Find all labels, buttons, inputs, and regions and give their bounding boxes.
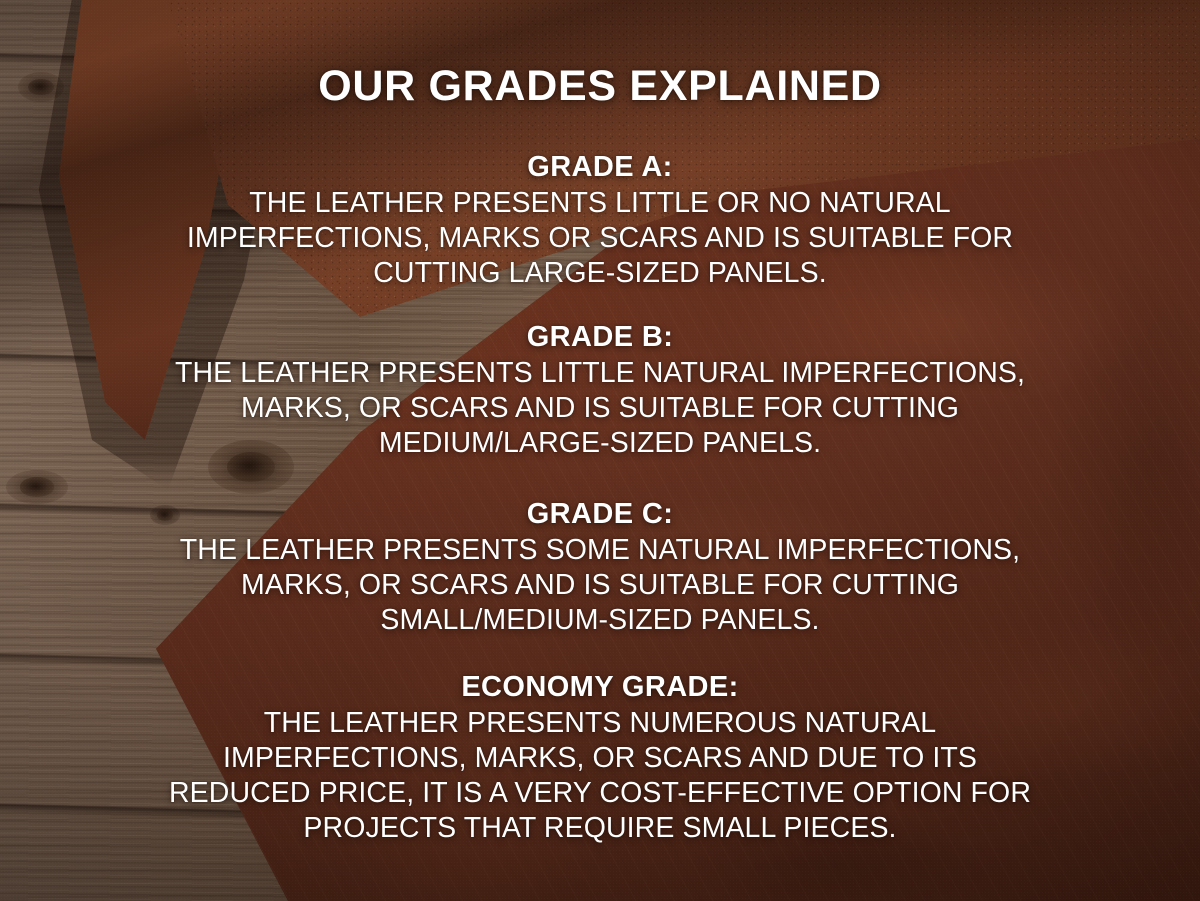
grade-b-description: THE LEATHER PRESENTS LITTLE NATURAL IMPE…	[30, 356, 1170, 461]
grade-c-description: THE LEATHER PRESENTS SOME NATURAL IMPERF…	[30, 533, 1170, 638]
economy-grade-line-3: REDUCED PRICE, IT IS A VERY COST-EFFECTI…	[30, 776, 1170, 811]
grade-a-line-3: CUTTING LARGE-SIZED PANELS.	[30, 256, 1170, 291]
economy-grade-line-2: IMPERFECTIONS, MARKS, OR SCARS AND DUE T…	[30, 741, 1170, 776]
grade-a-line-2: IMPERFECTIONS, MARKS OR SCARS AND IS SUI…	[30, 221, 1170, 256]
grade-block-b: GRADE B: THE LEATHER PRESENTS LITTLE NAT…	[30, 320, 1170, 461]
grade-block-economy: ECONOMY GRADE: THE LEATHER PRESENTS NUME…	[30, 670, 1170, 846]
economy-grade-description: THE LEATHER PRESENTS NUMEROUS NATURAL IM…	[30, 706, 1170, 846]
economy-grade-line-4: PROJECTS THAT REQUIRE SMALL PIECES.	[30, 811, 1170, 846]
grade-block-c: GRADE C: THE LEATHER PRESENTS SOME NATUR…	[30, 497, 1170, 638]
page-title: OUR GRADES EXPLAINED	[0, 65, 1200, 108]
poster-content: OUR GRADES EXPLAINED GRADE A: THE LEATHE…	[0, 0, 1200, 901]
grade-b-heading: GRADE B:	[30, 320, 1170, 355]
grade-b-line-1: THE LEATHER PRESENTS LITTLE NATURAL IMPE…	[30, 356, 1170, 391]
grade-c-line-2: MARKS, OR SCARS AND IS SUITABLE FOR CUTT…	[30, 568, 1170, 603]
grade-b-line-2: MARKS, OR SCARS AND IS SUITABLE FOR CUTT…	[30, 391, 1170, 426]
grade-c-heading: GRADE C:	[30, 497, 1170, 532]
grade-a-heading: GRADE A:	[30, 150, 1170, 185]
economy-grade-heading: ECONOMY GRADE:	[30, 670, 1170, 705]
grade-block-a: GRADE A: THE LEATHER PRESENTS LITTLE OR …	[30, 150, 1170, 291]
grade-a-line-1: THE LEATHER PRESENTS LITTLE OR NO NATURA…	[30, 186, 1170, 221]
economy-grade-line-1: THE LEATHER PRESENTS NUMEROUS NATURAL	[30, 706, 1170, 741]
grade-b-line-3: MEDIUM/LARGE-SIZED PANELS.	[30, 426, 1170, 461]
grades-explained-poster: OUR GRADES EXPLAINED GRADE A: THE LEATHE…	[0, 0, 1200, 901]
grade-c-line-3: SMALL/MEDIUM-SIZED PANELS.	[30, 603, 1170, 638]
grade-c-line-1: THE LEATHER PRESENTS SOME NATURAL IMPERF…	[30, 533, 1170, 568]
grade-a-description: THE LEATHER PRESENTS LITTLE OR NO NATURA…	[30, 186, 1170, 291]
